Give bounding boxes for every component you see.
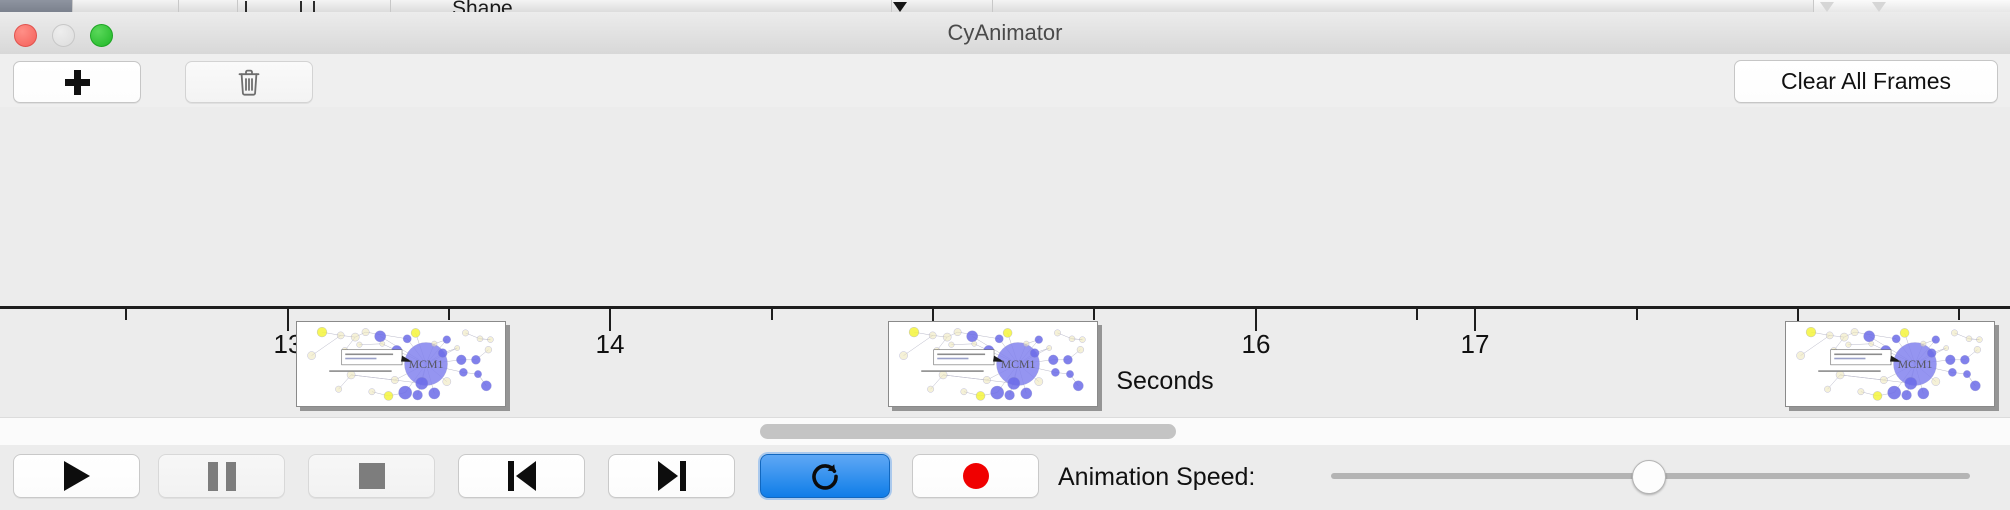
timeline-tick [287, 309, 289, 331]
clear-all-frames-button[interactable]: Clear All Frames [1734, 60, 1998, 103]
record-icon [963, 463, 989, 489]
bg-triangle [1820, 2, 1834, 12]
bg-mark [245, 1, 247, 12]
timeline-tick [125, 309, 127, 320]
timeline-tick [771, 309, 773, 320]
network-graph-preview: MCM1 [1786, 322, 1994, 406]
timeline-tick [1474, 309, 1476, 331]
timeline-scrollbar-thumb[interactable] [760, 424, 1176, 439]
timeline-tick [1255, 309, 1257, 331]
bg-triangle [893, 2, 907, 12]
network-graph-preview: MCM1 [889, 322, 1097, 406]
play-button[interactable] [13, 454, 140, 498]
delete-frame-button[interactable] [185, 61, 313, 103]
timeline-tick [1958, 309, 1960, 320]
bg-chip [993, 0, 1814, 12]
pause-icon [208, 462, 236, 491]
timeline-tick [1093, 309, 1095, 320]
trash-icon [238, 69, 260, 96]
timeline-tick-label: 16 [1242, 329, 1271, 360]
play-icon [64, 461, 90, 491]
timeline-tick [609, 309, 611, 331]
animation-speed-label: Animation Speed: [1058, 463, 1255, 492]
cyanimator-window: Shape CyAnimator [0, 0, 2010, 510]
titlebar: CyAnimator [0, 12, 2010, 55]
svg-text:MCM1: MCM1 [409, 357, 444, 371]
svg-text:MCM1: MCM1 [1001, 357, 1036, 371]
animation-speed-slider-thumb[interactable] [1632, 460, 1666, 494]
toolbar: Clear All Frames [0, 54, 2010, 108]
plus-icon [65, 70, 90, 95]
pause-button[interactable] [158, 454, 285, 498]
bg-chip [73, 0, 179, 12]
window-title: CyAnimator [0, 12, 2010, 54]
bg-mark [300, 1, 302, 12]
timeline-axis-line [0, 306, 2010, 309]
timeline-scrollbar[interactable] [0, 417, 2010, 446]
timeline-axis-title: Seconds [1116, 367, 1213, 396]
loop-icon [810, 461, 840, 491]
bg-chip [892, 0, 993, 12]
next-frame-button[interactable] [608, 454, 735, 498]
timeline-tick [1636, 309, 1638, 320]
bg-triangle [1872, 2, 1886, 12]
timeline-frame-thumbnail[interactable]: MCM1 [888, 321, 1098, 407]
bg-chip [0, 0, 73, 12]
stop-icon [359, 463, 385, 489]
record-button[interactable] [912, 454, 1039, 498]
timeline-frame-thumbnail[interactable]: MCM1 [296, 321, 506, 407]
timeline-frame-thumbnail[interactable]: MCM1 [1785, 321, 1995, 407]
timeline-tick-label: 14 [596, 329, 625, 360]
skip-back-icon [508, 461, 536, 491]
timeline-tick [1416, 309, 1418, 320]
timeline-panel[interactable]: 12131415161718 MCM1MCM1MCM1 Seconds [0, 107, 2010, 417]
previous-frame-button[interactable] [458, 454, 585, 498]
network-graph-preview: MCM1 [297, 322, 505, 406]
bg-chip [179, 0, 238, 12]
svg-text:MCM1: MCM1 [1898, 357, 1933, 371]
transport-bar: Animation Speed: [0, 445, 2010, 510]
stop-button[interactable] [308, 454, 435, 498]
timeline-tick-label: 17 [1461, 329, 1490, 360]
timeline-tick [448, 309, 450, 320]
skip-forward-icon [658, 461, 686, 491]
clear-all-frames-label: Clear All Frames [1781, 68, 1951, 95]
add-frame-button[interactable] [13, 61, 141, 103]
bg-mark [313, 1, 315, 12]
loop-button[interactable] [760, 454, 890, 498]
